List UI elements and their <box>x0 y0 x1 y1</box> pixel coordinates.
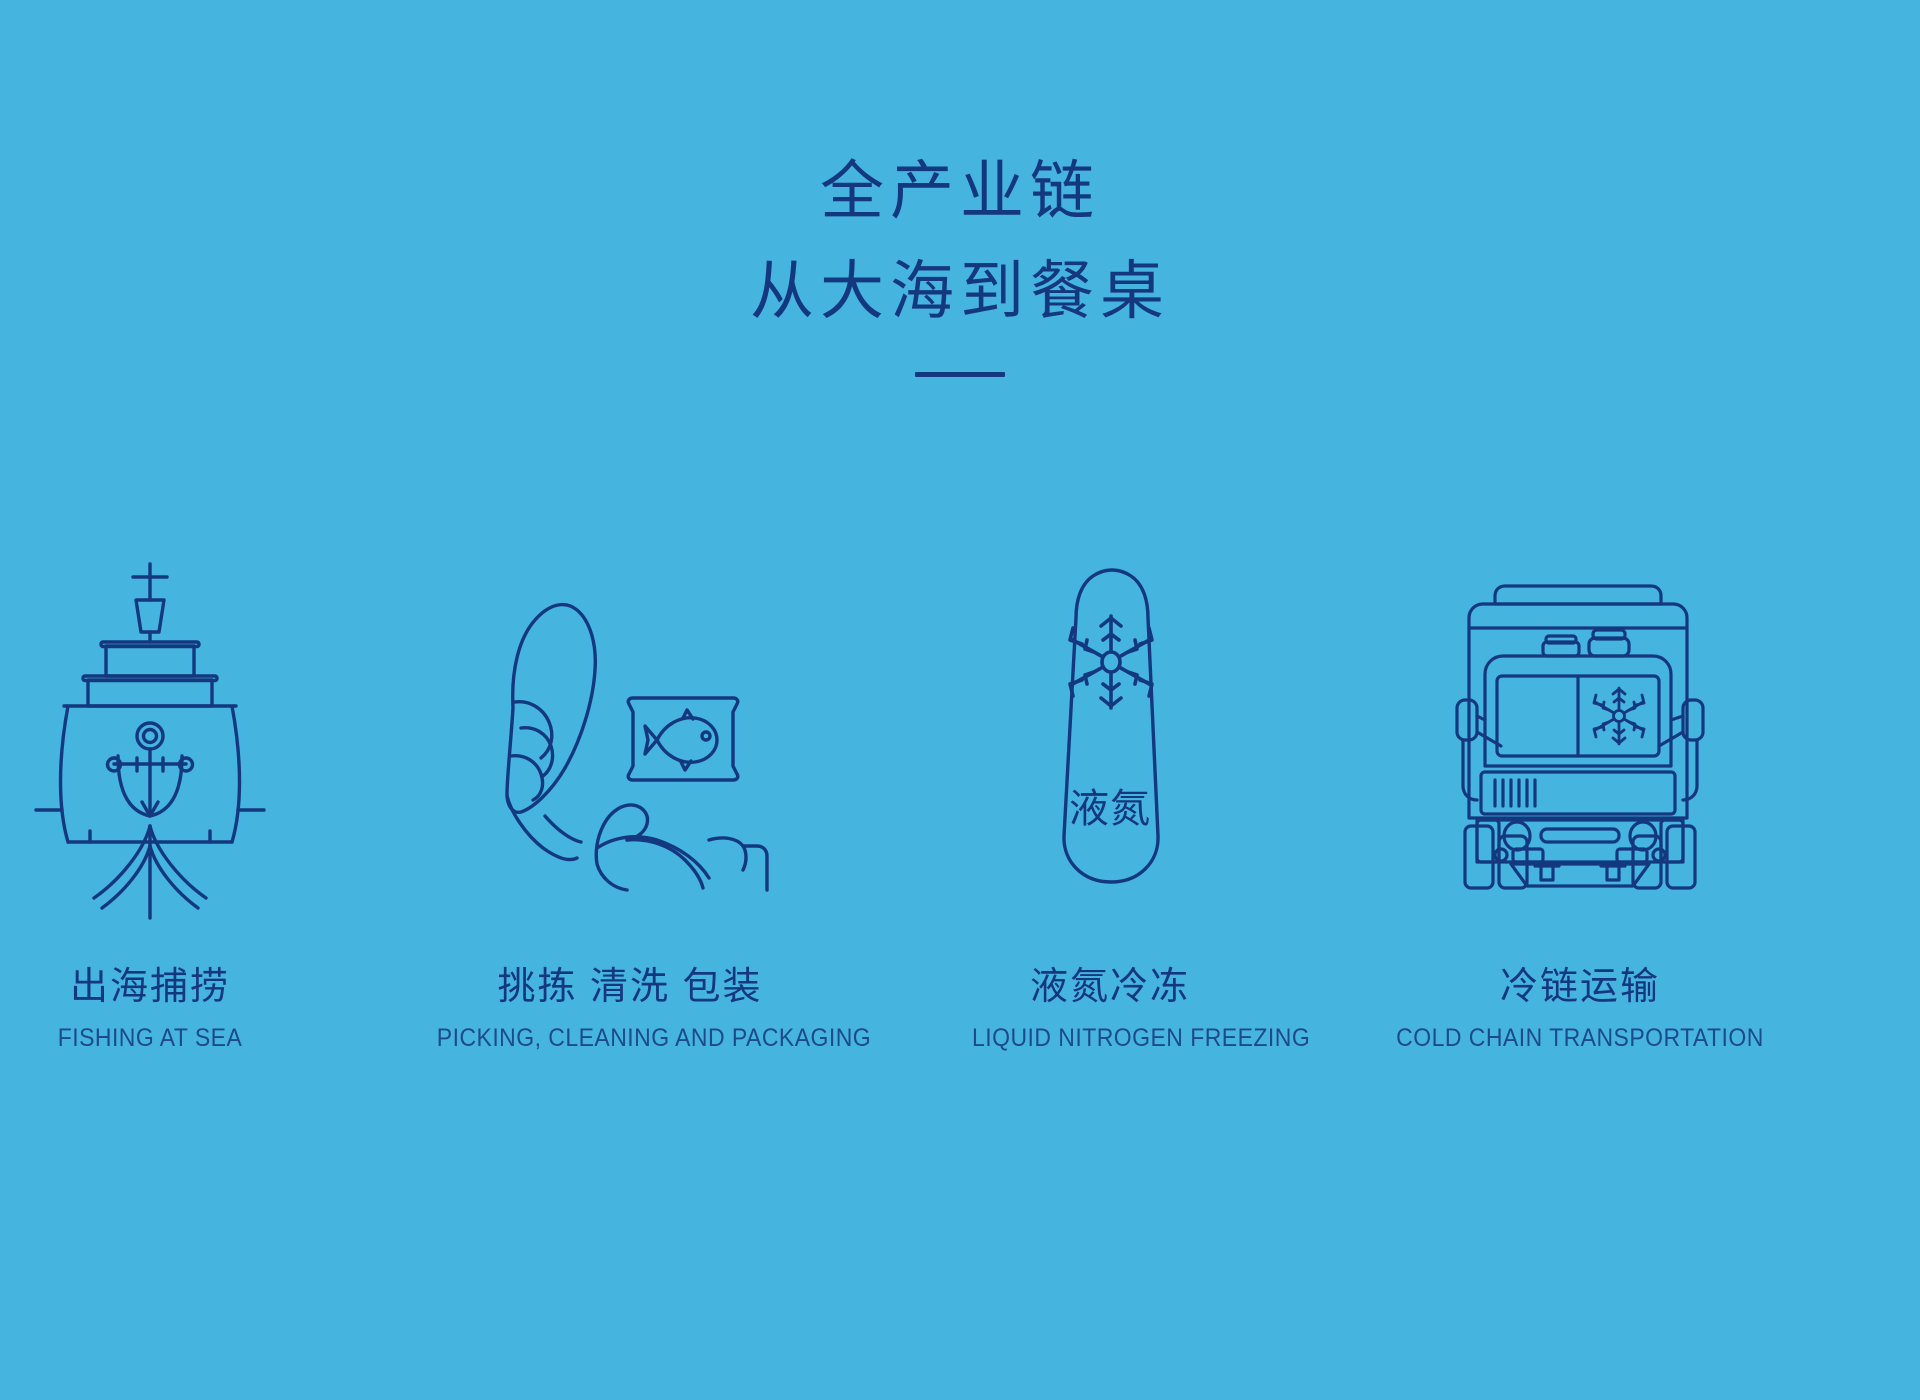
page-header: 全产业链 从大海到餐桌 <box>0 160 1920 377</box>
hands-with-packaged-fish-icon <box>485 590 775 890</box>
step-labels-liquid-nitrogen: 液氮冷冻 LIQUID NITROGEN FREEZING <box>960 966 1260 1053</box>
snowflake-icon <box>1594 688 1644 744</box>
snowflake-icon <box>1070 616 1152 708</box>
step-labels-picking: 挑拣 清洗 包装 PICKING, CLEANING AND PACKAGING <box>420 966 840 1053</box>
step-label-cn-1: 出海捕捞 <box>0 966 300 1010</box>
step-label-cn-2: 挑拣 清洗 包装 <box>420 966 840 1010</box>
step-label-en-4: COLD CHAIN TRANSPORTATION <box>1387 1024 1773 1053</box>
step-label-en-2: PICKING, CLEANING AND PACKAGING <box>437 1024 823 1053</box>
step-label-en-3: LIQUID NITROGEN FREEZING <box>972 1024 1248 1053</box>
step-item-picking-cleaning-packaging[interactable]: 挑拣 清洗 包装 PICKING, CLEANING AND PACKAGING <box>420 530 840 1053</box>
step-labels-fishing-at-sea: 出海捕捞 FISHING AT SEA <box>0 966 300 1053</box>
step-labels-cold-chain: 冷链运输 COLD CHAIN TRANSPORTATION <box>1370 966 1790 1053</box>
page-title-line-1: 全产业链 <box>0 160 1920 224</box>
fishing-boat-icon-box <box>0 530 300 890</box>
step-item-fishing-at-sea[interactable]: 出海捕捞 FISHING AT SEA <box>0 530 300 1053</box>
truck-icon-box <box>1370 530 1790 890</box>
step-label-en-1: FISHING AT SEA <box>12 1024 288 1053</box>
step-label-cn-4: 冷链运输 <box>1370 966 1790 1010</box>
promo-page: 全产业链 从大海到餐桌 <box>0 0 1920 1400</box>
title-divider-wrap <box>0 372 1920 377</box>
liquid-nitrogen-tank-icon: 液氮 <box>1045 560 1175 890</box>
step-item-liquid-nitrogen-freezing[interactable]: 液氮 液氮冷冻 LIQUID NITROGEN FREEZING <box>960 530 1260 1053</box>
page-title-line-2: 从大海到餐桌 <box>0 260 1920 324</box>
refrigerated-truck-icon <box>1455 580 1705 890</box>
step-item-cold-chain-transportation[interactable]: 冷链运输 COLD CHAIN TRANSPORTATION <box>1370 530 1790 1053</box>
tank-label: 液氮 <box>1069 787 1151 831</box>
fishing-boat-icon <box>32 560 268 890</box>
process-steps: 出海捕捞 FISHING AT SEA <box>0 530 1920 1053</box>
hands-icon-box <box>420 530 840 890</box>
liquid-nitrogen-icon-box: 液氮 <box>960 530 1260 890</box>
step-label-cn-3: 液氮冷冻 <box>960 966 1260 1010</box>
title-divider <box>915 372 1005 377</box>
